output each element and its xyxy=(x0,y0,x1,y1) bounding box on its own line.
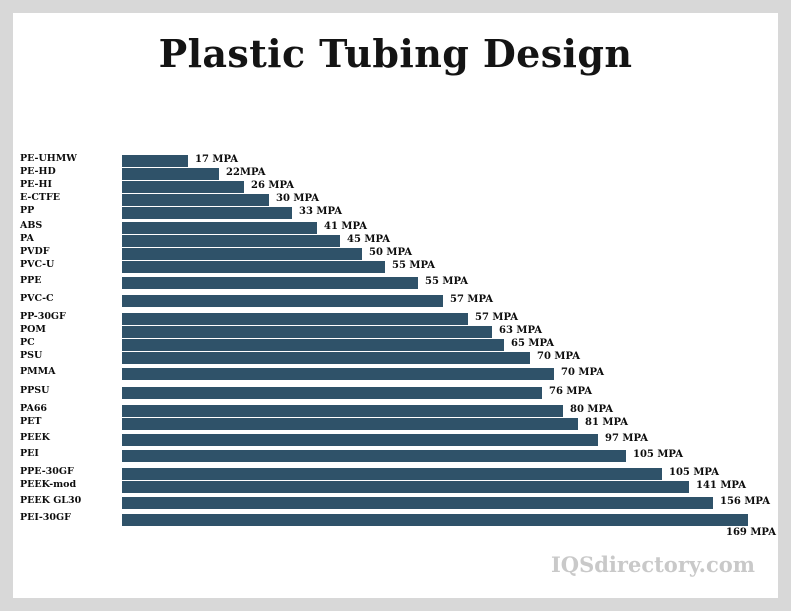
bar-row: PMMA70 MPA xyxy=(0,368,791,380)
bar-value-label: 97 MPA xyxy=(605,433,648,445)
bar-value-label: 22MPA xyxy=(226,167,266,179)
bar-value-label: 169 MPA xyxy=(726,527,776,539)
bar-category-label: PEI xyxy=(20,448,114,460)
bar-category-label: PVC-C xyxy=(20,293,114,305)
bar-category-label: PPE-30GF xyxy=(20,466,114,478)
bar-row: PA6680 MPA xyxy=(0,405,791,417)
bar-chart-plot-area: PE-UHMW17 MPAPE-HD22MPAPE-HI26 MPAE-CTFE… xyxy=(0,0,791,611)
bar-value-label: 33 MPA xyxy=(299,206,342,218)
bar-category-label: PE-UHMW xyxy=(20,153,114,165)
bar-value-label: 70 MPA xyxy=(561,367,604,379)
bar-row: PP-30GF57 MPA xyxy=(0,313,791,325)
bar xyxy=(122,277,418,289)
bar xyxy=(122,248,362,260)
bar-row: PE-UHMW17 MPA xyxy=(0,155,791,167)
bar xyxy=(122,313,468,325)
bar-row: PE-HI26 MPA xyxy=(0,181,791,193)
bar-row: PET81 MPA xyxy=(0,418,791,430)
bar-category-label: PEEK GL30 xyxy=(20,495,114,507)
bar-category-label: PET xyxy=(20,416,114,428)
bar xyxy=(122,434,598,446)
bar-category-label: ABS xyxy=(20,220,114,232)
bar-row: PC65 MPA xyxy=(0,339,791,351)
bar-value-label: 63 MPA xyxy=(499,325,542,337)
bar-row: PEI-30GF169 MPA xyxy=(0,514,791,526)
bar-value-label: 156 MPA xyxy=(720,496,770,508)
bar-category-label: PPE xyxy=(20,275,114,287)
bar xyxy=(122,352,530,364)
bar-category-label: PSU xyxy=(20,350,114,362)
bar-row: PEEK GL30156 MPA xyxy=(0,497,791,509)
bar xyxy=(122,181,244,193)
bar-value-label: 65 MPA xyxy=(511,338,554,350)
bar-value-label: 41 MPA xyxy=(324,221,367,233)
bar xyxy=(122,405,563,417)
bar-value-label: 57 MPA xyxy=(475,312,518,324)
bar xyxy=(122,326,492,338)
bar xyxy=(122,261,385,273)
bar-value-label: 26 MPA xyxy=(251,180,294,192)
bar-value-label: 141 MPA xyxy=(696,480,746,492)
bar-category-label: PE-HD xyxy=(20,166,114,178)
watermark-iqsdirectory: IQSdirectory.com xyxy=(551,552,755,577)
bar xyxy=(122,418,578,430)
bar xyxy=(122,497,713,509)
bar xyxy=(122,514,748,526)
bar-row: PPE-30GF105 MPA xyxy=(0,468,791,480)
bar-value-label: 55 MPA xyxy=(425,276,468,288)
bar xyxy=(122,450,626,462)
bar-row: PPSU76 MPA xyxy=(0,387,791,399)
bar-row: POM63 MPA xyxy=(0,326,791,338)
bar-value-label: 80 MPA xyxy=(570,404,613,416)
bar-category-label: PP-30GF xyxy=(20,311,114,323)
bar xyxy=(122,368,554,380)
bar-value-label: 81 MPA xyxy=(585,417,628,429)
chart-page: Plastic Tubing Design PE-UHMW17 MPAPE-HD… xyxy=(0,0,791,611)
bar-row: PEEK-mod141 MPA xyxy=(0,481,791,493)
bar-category-label: PE-HI xyxy=(20,179,114,191)
bar xyxy=(122,207,292,219)
bar-value-label: 30 MPA xyxy=(276,193,319,205)
bar-row: PA45 MPA xyxy=(0,235,791,247)
bar-row: ABS41 MPA xyxy=(0,222,791,234)
bar-category-label: PPSU xyxy=(20,385,114,397)
bar-row: PEEK97 MPA xyxy=(0,434,791,446)
bar-category-label: PEEK-mod xyxy=(20,479,114,491)
bar-category-label: PVC-U xyxy=(20,259,114,271)
bar-category-label: PEEK xyxy=(20,432,114,444)
bar-value-label: 17 MPA xyxy=(195,154,238,166)
bar xyxy=(122,387,542,399)
bar xyxy=(122,155,188,167)
bar xyxy=(122,468,662,480)
bar xyxy=(122,194,269,206)
bar-row: PVDF50 MPA xyxy=(0,248,791,260)
bar-value-label: 70 MPA xyxy=(537,351,580,363)
bar xyxy=(122,295,443,307)
bar-category-label: PEI-30GF xyxy=(20,512,114,524)
bar xyxy=(122,168,219,180)
bar-category-label: PMMA xyxy=(20,366,114,378)
bar-row: PVC-U55 MPA xyxy=(0,261,791,273)
bar-category-label: POM xyxy=(20,324,114,336)
bar-value-label: 50 MPA xyxy=(369,247,412,259)
bar xyxy=(122,339,504,351)
bar-row: PE-HD22MPA xyxy=(0,168,791,180)
bar-value-label: 105 MPA xyxy=(669,467,719,479)
bar xyxy=(122,222,317,234)
bar-value-label: 76 MPA xyxy=(549,386,592,398)
bar-row: PSU70 MPA xyxy=(0,352,791,364)
bar-category-label: PA xyxy=(20,233,114,245)
bar-value-label: 57 MPA xyxy=(450,294,493,306)
bar-row: PPE55 MPA xyxy=(0,277,791,289)
bar xyxy=(122,481,689,493)
bar-category-label: E-CTFE xyxy=(20,192,114,204)
bar-row: E-CTFE30 MPA xyxy=(0,194,791,206)
bar xyxy=(122,235,340,247)
bar-row: PVC-C57 MPA xyxy=(0,295,791,307)
bar-category-label: PC xyxy=(20,337,114,349)
bar-value-label: 45 MPA xyxy=(347,234,390,246)
bar-row: PEI105 MPA xyxy=(0,450,791,462)
bar-category-label: PP xyxy=(20,205,114,217)
bar-category-label: PA66 xyxy=(20,403,114,415)
bar-row: PP33 MPA xyxy=(0,207,791,219)
bar-category-label: PVDF xyxy=(20,246,114,258)
bar-value-label: 105 MPA xyxy=(633,449,683,461)
bar-value-label: 55 MPA xyxy=(392,260,435,272)
